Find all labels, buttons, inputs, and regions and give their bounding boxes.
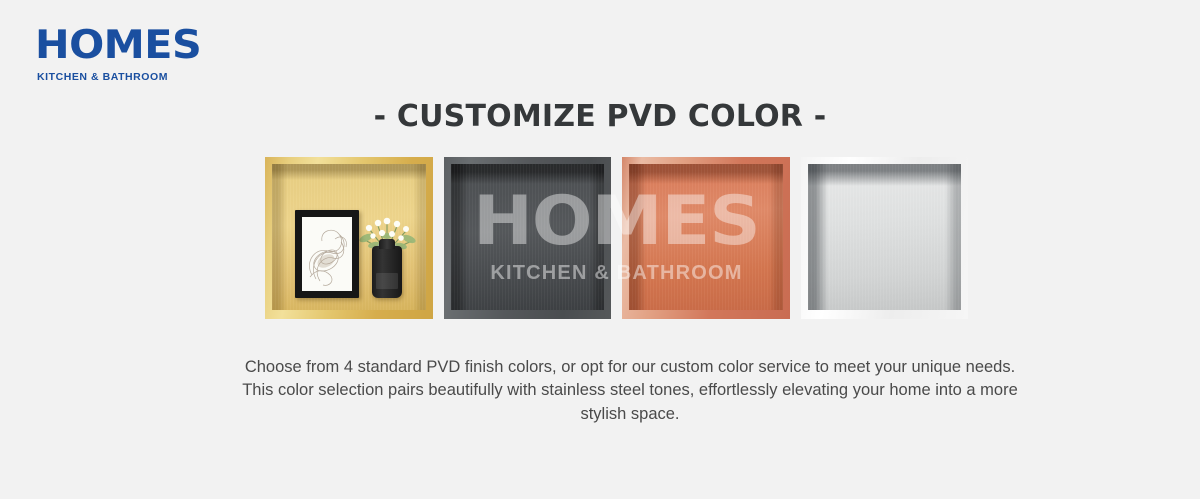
page-title: - CUSTOMIZE PVD COLOR - <box>0 99 1200 135</box>
description-text: Choose from 4 standard PVD finish colors… <box>235 356 1025 426</box>
picture-frame-mat <box>302 217 352 291</box>
brushed-texture-overlay <box>629 164 783 310</box>
brand-logo-tagline: KITCHEN & BATHROOM <box>37 72 295 83</box>
niche-interior-gunmetal <box>451 164 605 310</box>
brushed-texture-overlay <box>451 164 605 310</box>
abstract-line-art-icon <box>302 217 352 291</box>
color-swatch-stainless[interactable] <box>801 157 969 319</box>
color-swatch-copper[interactable] <box>622 157 790 319</box>
niche-interior-copper <box>629 164 783 310</box>
brushed-texture-overlay <box>808 164 962 310</box>
color-swatch-gunmetal[interactable] <box>444 157 612 319</box>
color-swatch-gold[interactable] <box>265 157 433 319</box>
brand-logo[interactable]: HOMES KITCHEN & BATHROOM <box>35 26 295 83</box>
black-vase <box>372 246 402 298</box>
black-picture-frame <box>295 210 359 298</box>
niche-interior-stainless <box>808 164 962 310</box>
brand-logo-wordmark: HOMES <box>35 26 311 65</box>
niche-interior-gold <box>272 164 426 310</box>
vase-label <box>376 273 398 289</box>
pvd-color-gallery: HOMES KITCHEN & BATHROOM <box>265 157 968 319</box>
